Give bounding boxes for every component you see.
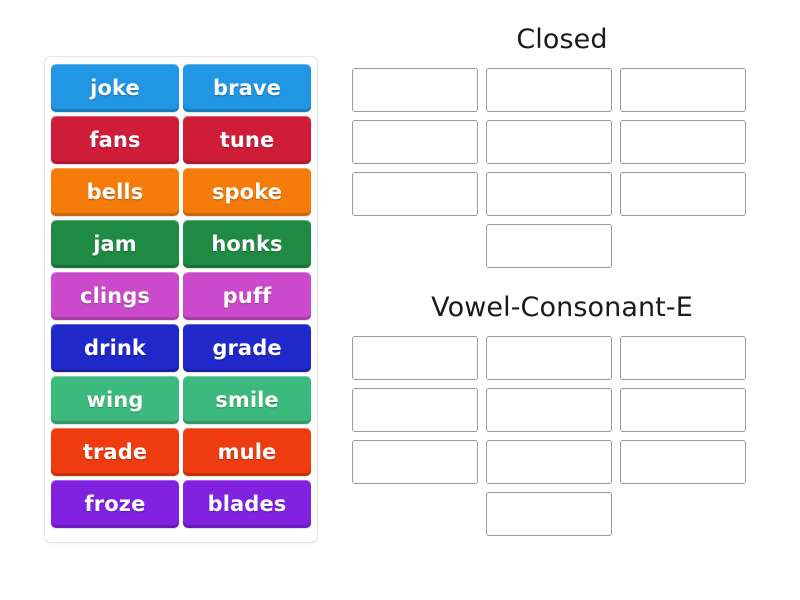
drop-slot[interactable] [486,440,612,484]
drop-slot-grid-closed [352,68,772,268]
drop-slot[interactable] [486,224,612,268]
drop-zone-section-vowel-consonant-e: Vowel-Consonant-E [352,290,772,536]
drop-slot[interactable] [620,440,746,484]
drop-slot[interactable] [486,336,612,380]
drop-slot[interactable] [620,172,746,216]
word-tile[interactable]: mule [183,428,311,476]
word-tile[interactable]: trade [51,428,179,476]
word-tile-grid: jokebravefanstunebellsspokejamhonkscling… [51,64,311,528]
drop-zone-section-closed: Closed [352,22,772,268]
word-bank-panel: jokebravefanstunebellsspokejamhonkscling… [44,56,318,543]
word-tile[interactable]: clings [51,272,179,320]
word-tile[interactable]: jam [51,220,179,268]
drop-slot-grid-vowel-consonant-e [352,336,772,536]
drop-slot[interactable] [486,388,612,432]
drop-slot[interactable] [352,172,478,216]
drop-slot[interactable] [620,68,746,112]
word-tile[interactable]: joke [51,64,179,112]
drop-slot[interactable] [352,388,478,432]
word-tile[interactable]: spoke [183,168,311,216]
drop-slot[interactable] [620,336,746,380]
word-tile[interactable]: froze [51,480,179,528]
drop-zones-container: ClosedVowel-Consonant-E [352,22,772,536]
word-tile[interactable]: drink [51,324,179,372]
drop-slot[interactable] [486,492,612,536]
word-tile[interactable]: smile [183,376,311,424]
word-tile[interactable]: puff [183,272,311,320]
drop-slot[interactable] [486,68,612,112]
word-tile[interactable]: wing [51,376,179,424]
drop-slot[interactable] [486,172,612,216]
word-tile[interactable]: tune [183,116,311,164]
word-tile[interactable]: fans [51,116,179,164]
word-tile[interactable]: blades [183,480,311,528]
drop-zone-title-closed: Closed [352,22,772,68]
drop-slot[interactable] [620,120,746,164]
word-tile[interactable]: grade [183,324,311,372]
drop-slot[interactable] [352,68,478,112]
drop-slot[interactable] [352,336,478,380]
drop-slot[interactable] [352,120,478,164]
word-tile[interactable]: brave [183,64,311,112]
drop-zone-title-vowel-consonant-e: Vowel-Consonant-E [352,290,772,336]
drop-slot[interactable] [486,120,612,164]
drop-slot[interactable] [620,388,746,432]
word-tile[interactable]: honks [183,220,311,268]
word-tile[interactable]: bells [51,168,179,216]
drop-slot[interactable] [352,440,478,484]
